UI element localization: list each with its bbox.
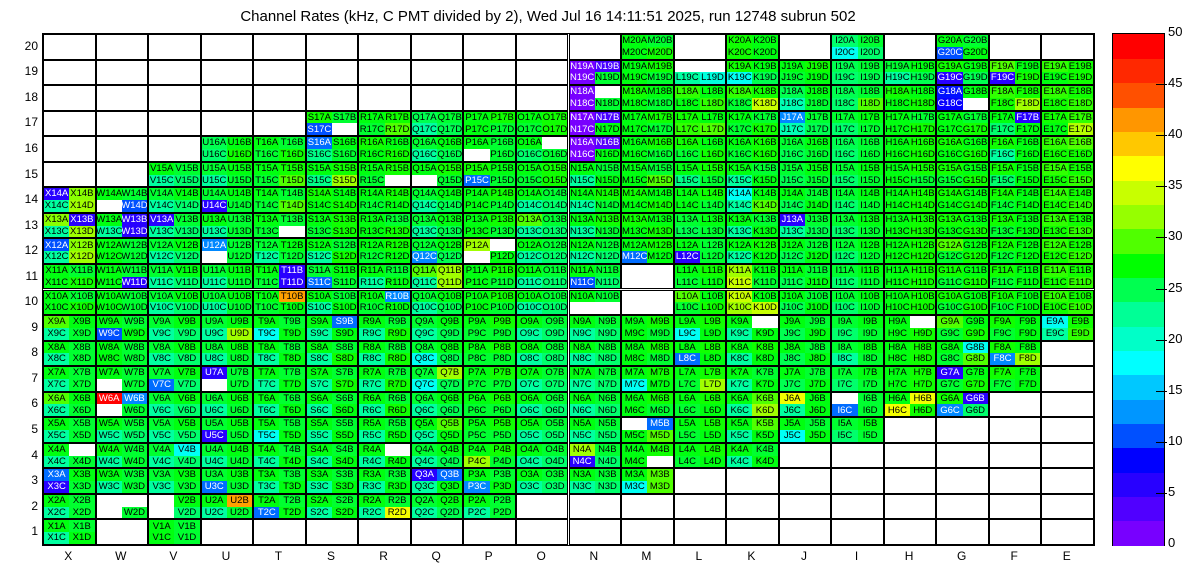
heatmap-cell: M20AM20BM20CM20D [621,34,674,60]
heatmap-channel: K12D [752,251,777,263]
heatmap-channel: K16D [752,149,777,161]
heatmap-channel: W14A [97,188,122,200]
heatmap-cell [358,34,411,60]
heatmap-channel: J16B [805,137,830,149]
heatmap-cell: G18AG18BG18C [936,85,989,111]
heatmap-channel: Q12D [437,251,462,263]
colorbar-tick-label: 10 [1168,433,1182,448]
heatmap-channel: O11A [517,265,542,277]
heatmap-channel: K15A [727,163,752,175]
heatmap-cell: E10AE10BE10CE10D [1041,290,1094,316]
heatmap-channel: E11C [1042,277,1067,289]
y-axis: 2019181716151413121110987654321 [0,33,38,546]
heatmap-channel: Q10D [437,302,462,314]
heatmap-channel: I17C [832,123,857,135]
heatmap-channel: G15D [963,175,988,187]
heatmap-channel: J18C [780,98,805,110]
heatmap-cell [253,60,306,86]
heatmap-channel: T13C [254,226,279,238]
heatmap-channel: V7A [149,367,174,379]
heatmap-channel: T11B [279,265,304,277]
heatmap-channel: P9A [464,316,489,328]
colorbar-segment [1113,326,1164,351]
heatmap-channel: L9B [700,316,725,328]
heatmap-channel: X3B [69,469,94,481]
y-axis-tick: 17 [6,115,38,129]
heatmap-cell: Q11AQ11BQ11CQ11D [411,264,464,290]
heatmap-cell [463,519,516,545]
heatmap-channel: M7D [647,379,672,391]
heatmap-channel: J14A [780,188,805,200]
heatmap-channel: H15B [910,163,935,175]
heatmap-channel: X3A [44,469,69,481]
heatmap-channel: R11A [359,265,384,277]
heatmap-channel: T15D [279,175,304,187]
heatmap-channel: N18A [570,86,595,98]
heatmap-channel: Q15B [437,163,462,175]
heatmap-channel: U11D [227,277,252,289]
heatmap-channel: X6D [69,404,94,416]
heatmap-cell [43,162,96,188]
heatmap-channel: M19C [622,72,647,84]
heatmap-channel: N13C [570,226,595,238]
heatmap-channel: T8A [254,342,279,354]
heatmap-channel: T10A [254,291,279,303]
heatmap-cell [779,468,832,494]
heatmap-channel: L10A [675,291,700,303]
heatmap-cell: Q17AQ17BQ17CQ17D [411,111,464,137]
heatmap-channel: O8B [542,342,567,354]
heatmap-cell: G14AG14BG14CG14D [936,187,989,213]
heatmap-channel: O7B [542,367,567,379]
heatmap-channel: F15D [1015,175,1040,187]
heatmap-channel: R5C [359,430,384,442]
heatmap-cell: K16AK16BK16CK16D [726,136,779,162]
heatmap-channel: I12B [858,239,883,251]
heatmap-channel: F9C [990,328,1015,340]
y-axis-tick: 19 [6,64,38,78]
heatmap-cell [621,519,674,545]
heatmap-cell: Q15AQ15BQ15D [411,162,464,188]
heatmap-channel: U7A [202,367,227,379]
heatmap-channel: F9B [1015,316,1040,328]
heatmap-channel: V8B [174,342,199,354]
heatmap-channel: H8B [910,342,935,354]
heatmap-channel: Q10A [412,291,437,303]
heatmap-cell: K5AK5BK5CK5D [726,417,779,443]
heatmap-channel: H10C [885,302,910,314]
heatmap-channel: J12A [780,239,805,251]
heatmap-channel: R15A [359,163,384,175]
heatmap-channel: I19B [858,61,883,73]
heatmap-channel: W10A [97,291,122,303]
heatmap-channel: R12A [359,239,384,251]
heatmap-channel: O10A [517,291,542,303]
heatmap-channel: M13D [647,226,672,238]
heatmap-channel: L14A [675,188,700,200]
heatmap-channel: H16A [885,137,910,149]
heatmap-channel: M17D [647,123,672,135]
heatmap-channel: O17B [542,112,567,124]
heatmap-channel: J10B [805,291,830,303]
heatmap-channel: L4D [700,456,725,468]
heatmap-cell: S14AS14BS14CS14D [306,187,359,213]
heatmap-channel: T5B [279,418,304,430]
heatmap-cell: L5AL5BL5CL5D [674,417,727,443]
heatmap-channel: Q5C [412,430,437,442]
y-axis-tick: 18 [6,90,38,104]
heatmap-channel: L11D [700,277,725,289]
heatmap-channel: U3C [202,481,227,493]
heatmap-channel: N15C [570,175,595,187]
heatmap-cell: P5AP5BP5CP5D [463,417,516,443]
heatmap-channel: Q16A [412,137,437,149]
heatmap-channel: K12B [752,239,777,251]
heatmap-channel: J12C [780,251,805,263]
heatmap-channel: W4C [97,456,122,468]
heatmap-channel: F11B [1015,265,1040,277]
heatmap-channel: V11C [149,277,174,289]
heatmap-channel: M12B [647,239,672,251]
heatmap-cell: H14AH14BH14CH14D [884,187,937,213]
heatmap-cell: H17AH17BH17CH17D [884,111,937,137]
heatmap-channel: O14B [542,188,567,200]
heatmap-channel: Q7D [437,379,462,391]
heatmap-channel: O6D [542,404,567,416]
heatmap-channel: G10C [937,302,962,314]
heatmap-channel: S12C [307,251,332,263]
heatmap-cell: V4AV4BV4CV4D [148,443,201,469]
heatmap-channel: Q7A [412,367,437,379]
heatmap-cell: N15AN15BN15CN15D [569,162,622,188]
heatmap-channel: O8D [542,353,567,365]
heatmap-channel: S8D [332,353,357,365]
heatmap-channel: M16D [647,149,672,161]
heatmap-channel: H13C [885,226,910,238]
heatmap-channel: V14A [149,188,174,200]
heatmap-cell [831,443,884,469]
heatmap-channel: R17D [385,123,410,135]
heatmap-channel: K10C [727,302,752,314]
heatmap-channel: W13C [97,226,122,238]
heatmap-channel: R13A [359,214,384,226]
heatmap-channel: R7B [385,367,410,379]
colorbar-tick-mark [1156,289,1167,290]
heatmap-channel: N19C [570,72,595,84]
heatmap-cell [96,111,149,137]
heatmap-channel: K19C [727,72,752,84]
heatmap-channel: O3D [542,481,567,493]
heatmap-cell: I18AI18BI18CI18D [831,85,884,111]
heatmap-cell: E11AE11BE11CE11D [1041,264,1094,290]
heatmap-cell: K13AK13BK13CK13D [726,213,779,239]
heatmap-channel: M19B [647,61,672,73]
heatmap-cell: E19AE19BE19CE19D [1041,60,1094,86]
heatmap-cell: J7AJ7BJ7CJ7D [779,366,832,392]
heatmap-channel: U14C [202,200,227,212]
heatmap-channel: S4D [332,456,357,468]
heatmap-channel: I8C [832,353,857,365]
heatmap-channel: W14D [122,200,147,212]
heatmap-cell: V1AV1BV1CV1D [148,519,201,545]
heatmap-channel: O13D [542,226,567,238]
heatmap-channel: N7A [570,367,595,379]
heatmap-channel: K16C [727,149,752,161]
heatmap-channel: N12A [570,239,595,251]
heatmap-channel: F18D [1015,98,1040,110]
heatmap-channel: F19A [990,61,1015,73]
heatmap-channel: H11D [910,277,935,289]
heatmap-channel: E17C [1042,123,1067,135]
heatmap-channel: L17C [675,123,700,135]
colorbar-segment [1113,399,1164,424]
heatmap-channel: Q3B [437,469,462,481]
colorbar-segment [1113,350,1164,375]
heatmap-channel: W9D [122,328,147,340]
heatmap-channel: E17D [1068,123,1093,135]
heatmap-channel: F14D [1015,200,1040,212]
heatmap-channel: G14A [937,188,962,200]
heatmap-channel: L16D [700,149,725,161]
heatmap-channel: M9A [622,316,647,328]
heatmap-channel: G19A [937,61,962,73]
heatmap-cell: Q12AQ12BQ12CQ12D [411,238,464,264]
heatmap-channel: J18D [805,98,830,110]
heatmap-channel: H9A [885,316,910,328]
heatmap-channel: L8B [700,342,725,354]
heatmap-cell: K17AK17BK17CK17D [726,111,779,137]
heatmap-channel: U13A [202,214,227,226]
heatmap-channel: K17D [752,123,777,135]
heatmap-channel: N7D [595,379,620,391]
heatmap-channel: P13A [464,214,489,226]
heatmap-channel: K12A [727,239,752,251]
heatmap-channel: N11B [595,265,620,277]
heatmap-cell: I11AI11BI11CI11D [831,264,884,290]
heatmap-cell: O12AO12BO12CO12D [516,238,569,264]
heatmap-channel: V5C [149,430,174,442]
heatmap-channel: Q11A [412,265,437,277]
heatmap-channel: I7B [858,367,883,379]
heatmap-channel: X4C [44,456,69,468]
heatmap-cell: M19AM19BM19CM19D [621,60,674,86]
heatmap-channel: T11A [254,265,279,277]
heatmap-channel: P13B [490,214,515,226]
heatmap-cell: V15AV15BV15CV15D [148,162,201,188]
heatmap-cell: P6AP6BP6CP6D [463,392,516,418]
heatmap-cell: G10AG10BG10CG10D [936,290,989,316]
heatmap-channel: S16A [307,137,332,149]
heatmap-channel: G9A [937,316,962,328]
heatmap-cell [1041,443,1094,469]
heatmap-channel: L13A [675,214,700,226]
heatmap-channel: U10D [227,302,252,314]
heatmap-cell: L9AL9BL9CL9D [674,315,727,341]
heatmap-channel: P11A [464,265,489,277]
heatmap-channel: P3C [464,481,489,493]
heatmap-channel: O14C [517,200,542,212]
heatmap-cell: X10AX10BX10CX10D [43,290,96,316]
heatmap-channel: W8C [97,353,122,365]
heatmap-cell: L6AL6BL6CL6D [674,392,727,418]
heatmap-channel: X8B [69,342,94,354]
heatmap-cell: N3AN3BN3CN3D [569,468,622,494]
heatmap-cell [463,85,516,111]
heatmap-channel: K20B [752,35,777,47]
heatmap-channel: I9C [832,328,857,340]
heatmap-cell [726,468,779,494]
heatmap-channel: L7A [675,367,700,379]
heatmap-channel: E13C [1042,226,1067,238]
heatmap-channel: I20C [832,47,857,59]
heatmap-cell: N14AN14BN14CN14D [569,187,622,213]
heatmap-cell: I19AI19BI19CI19D [831,60,884,86]
heatmap-channel: T7B [279,367,304,379]
heatmap-channel: I11B [858,265,883,277]
heatmap-cell: L11AL11BL11CL11D [674,264,727,290]
heatmap-channel: Q10C [412,302,437,314]
heatmap-channel: S5D [332,430,357,442]
heatmap-channel: F7A [990,367,1015,379]
heatmap-channel: J6B [805,393,830,405]
heatmap-channel: M15C [622,175,647,187]
heatmap-channel: M19D [647,72,672,84]
heatmap-channel: O15D [542,175,567,187]
heatmap-channel: K5B [752,418,777,430]
heatmap-channel: T11D [279,277,304,289]
heatmap-channel: R15C [359,175,384,187]
heatmap-channel: T10C [254,302,279,314]
heatmap-cell: I6BI6CI6D [831,392,884,418]
x-axis-tick: V [147,549,200,563]
heatmap-cell [516,34,569,60]
heatmap-channel: I8B [858,342,883,354]
heatmap-channel: T15C [254,175,279,187]
heatmap-channel: T4C [254,456,279,468]
heatmap-channel: K15D [752,175,777,187]
heatmap-cell: X12AX12BX12CX12D [43,238,96,264]
heatmap-channel: T6C [254,404,279,416]
heatmap-channel: S4C [307,456,332,468]
heatmap-channel: U8B [227,342,252,354]
heatmap-channel: O11D [542,277,567,289]
heatmap-channel: K14B [752,188,777,200]
heatmap-channel: S8A [307,342,332,354]
heatmap-channel: N17B [595,112,620,124]
heatmap-channel: O5B [542,418,567,430]
heatmap-channel: H14A [885,188,910,200]
heatmap-channel: H6D [910,404,935,416]
heatmap-channel: O7C [517,379,542,391]
heatmap-channel: I5A [832,418,857,430]
heatmap-channel: G8D [963,353,988,365]
heatmap-channel: N11C [570,277,595,289]
heatmap-channel: J10A [780,291,805,303]
heatmap-channel: Q9C [412,328,437,340]
heatmap-cell [779,34,832,60]
heatmap-cell: O13AO13BO13CO13D [516,213,569,239]
heatmap-channel: X1A [44,520,69,532]
colorbar-tick-mark [1156,340,1167,341]
heatmap-channel: K14C [727,200,752,212]
heatmap-channel: X13C [44,226,69,238]
heatmap-channel: K19B [752,61,777,73]
heatmap-cell: W3AW3BW3CW3D [96,468,149,494]
heatmap-channel: I17D [858,123,883,135]
heatmap-channel: I17B [858,112,883,124]
heatmap-channel: T14C [254,200,279,212]
heatmap-channel: I15A [832,163,857,175]
heatmap-channel: N17A [570,112,595,124]
heatmap-channel: N18C [570,98,595,110]
heatmap-channel: H19D [910,72,935,84]
heatmap-channel: U9D [227,328,252,340]
heatmap-cell: N5AN5BN5CN5D [569,417,622,443]
heatmap-channel: M7C [622,379,647,391]
heatmap-cell: G11AG11BG11CG11D [936,264,989,290]
heatmap-channel: X9A [44,316,69,328]
heatmap-channel: E10D [1068,302,1093,314]
heatmap-cell [779,443,832,469]
heatmap-cell: N18AN18CN18D [569,85,622,111]
heatmap-cell: J9AJ9BJ9CJ9D [779,315,832,341]
heatmap-cell: O14AO14BO14CO14D [516,187,569,213]
heatmap-channel: L14C [675,200,700,212]
heatmap-channel: U5D [227,430,252,442]
heatmap-channel: U9A [202,316,227,328]
heatmap-channel: E19A [1042,61,1067,73]
heatmap-channel: R2B [385,495,410,507]
heatmap-channel: V1A [149,520,174,532]
heatmap-cell: P3AP3BP3CP3D [463,468,516,494]
heatmap-channel: Q8A [412,342,437,354]
heatmap-channel: S12D [332,251,357,263]
heatmap-channel: V2D [174,507,199,519]
heatmap-channel: T15B [279,163,304,175]
heatmap-channel: M8D [647,353,672,365]
heatmap-channel: K10D [752,302,777,314]
heatmap-cell: U15AU15BU15CU15D [201,162,254,188]
heatmap-channel: J18B [805,86,830,98]
heatmap-channel: U15B [227,163,252,175]
heatmap-channel: F8C [990,353,1015,365]
colorbar-tick-label: 20 [1168,331,1182,346]
heatmap-cell: H15AH15BH15CH15D [884,162,937,188]
heatmap-cell: O11AO11BO11CO11D [516,264,569,290]
heatmap-channel: K18D [752,98,777,110]
colorbar-tick-label: 45 [1168,75,1182,90]
x-axis-tick: J [778,549,831,563]
heatmap-channel: M12A [622,239,647,251]
heatmap-channel: F7D [1015,379,1040,391]
heatmap-channel: S14B [332,188,357,200]
heatmap-cell: N6AN6BN6CN6D [569,392,622,418]
heatmap-cell: U8AU8BU8CU8D [201,341,254,367]
heatmap-cell [411,60,464,86]
heatmap-cell: O9AO9BO9CO9D [516,315,569,341]
heatmap-channel: U3D [227,481,252,493]
heatmap-channel: I16A [832,137,857,149]
heatmap-channel: W11C [97,277,122,289]
heatmap-cell: N8AN8BN8CN8D [569,341,622,367]
heatmap-channel: E11D [1068,277,1093,289]
heatmap-channel: S13A [307,214,332,226]
heatmap-cell: I20AI20BI20CI20D [831,34,884,60]
heatmap-channel: E9D [1068,328,1093,340]
heatmap-cell [936,468,989,494]
heatmap-channel: V10A [149,291,174,303]
heatmap-channel: R3D [385,481,410,493]
